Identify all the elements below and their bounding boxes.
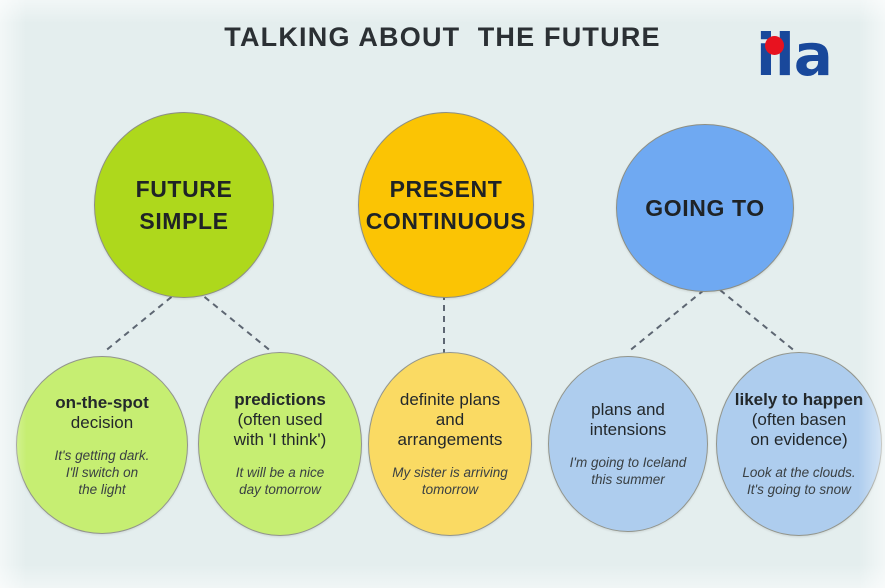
detail-heading: definite plans and arrangements (398, 390, 503, 450)
detail-heading-line1: likely to happen (735, 390, 863, 410)
detail-example: It will be a nice day tomorrow (236, 464, 325, 498)
detail-example-line2: day tomorrow (236, 481, 325, 498)
detail-heading-line1: plans and (590, 400, 667, 420)
detail-heading: predictions (often used with 'I think') (234, 390, 326, 450)
connector-group-going-to (612, 286, 812, 358)
detail-heading-line1: definite plans (398, 390, 503, 410)
category-label-line1: FUTURE (136, 173, 233, 205)
detail-example-line2: It's going to snow (742, 481, 855, 498)
detail-heading-line2: (often used (234, 410, 326, 430)
detail-heading: plans and intensions (590, 400, 667, 440)
category-label-line1: GOING TO (645, 192, 764, 224)
detail-example: I'm going to Iceland this summer (570, 454, 687, 488)
connector-group-present-continuous (426, 292, 462, 358)
category-going-to[interactable]: GOING TO (616, 124, 794, 292)
detail-heading: on-the-spot decision (55, 393, 148, 433)
detail-heading-line2: intensions (590, 420, 667, 440)
detail-heading-line2: and (398, 410, 503, 430)
detail-example-line2: I'll switch on (55, 464, 150, 481)
detail-definite-plans[interactable]: definite plans and arrangements My siste… (368, 352, 532, 536)
detail-example-line3: the light (55, 481, 150, 498)
detail-predictions[interactable]: predictions (often used with 'I think') … (198, 352, 362, 536)
logo-wordmark: ila (739, 22, 849, 88)
detail-example-line1: My sister is arriving (392, 464, 508, 481)
detail-example: Look at the clouds. It's going to snow (742, 464, 855, 498)
detail-heading: likely to happen (often basen on evidenc… (735, 390, 863, 450)
category-label-line1: PRESENT (390, 173, 503, 205)
detail-plans-and-intensions[interactable]: plans and intensions I'm going to Icelan… (548, 356, 708, 532)
detail-heading-line1: predictions (234, 390, 326, 410)
detail-heading-line3: on evidence) (735, 430, 863, 450)
detail-heading-line3: arrangements (398, 430, 503, 450)
category-label-line2: CONTINUOUS (366, 205, 527, 237)
detail-likely-to-happen[interactable]: likely to happen (often basen on evidenc… (716, 352, 882, 536)
detail-example-line1: It will be a nice (236, 464, 325, 481)
brand-logo: ila (739, 18, 849, 98)
detail-on-the-spot-decision[interactable]: on-the-spot decision It's getting dark. … (16, 356, 188, 534)
detail-example-line2: this summer (570, 471, 687, 488)
connector-line-left (104, 290, 180, 352)
detail-heading-line3: with 'I think') (234, 430, 326, 450)
detail-heading-line1: on-the-spot (55, 393, 148, 413)
connector-line-right (720, 290, 796, 352)
detail-example-line1: I'm going to Iceland (570, 454, 687, 471)
connector-line-right (196, 290, 272, 352)
detail-example-line1: Look at the clouds. (742, 464, 855, 481)
detail-example: It's getting dark. I'll switch on the li… (55, 447, 150, 498)
category-label-line2: SIMPLE (139, 205, 228, 237)
category-future-simple[interactable]: FUTURE SIMPLE (94, 112, 274, 298)
detail-example: My sister is arriving tomorrow (392, 464, 508, 498)
detail-example-line1: It's getting dark. (55, 447, 150, 464)
detail-heading-line2: decision (55, 413, 148, 433)
logo-dot-icon (765, 36, 784, 55)
detail-heading-line2: (often basen (735, 410, 863, 430)
category-present-continuous[interactable]: PRESENT CONTINUOUS (358, 112, 534, 298)
detail-example-line2: tomorrow (392, 481, 508, 498)
connector-line-left (628, 290, 704, 352)
infographic-canvas: TALKING ABOUT THE FUTURE ila FUTURE SIMP… (0, 0, 885, 588)
